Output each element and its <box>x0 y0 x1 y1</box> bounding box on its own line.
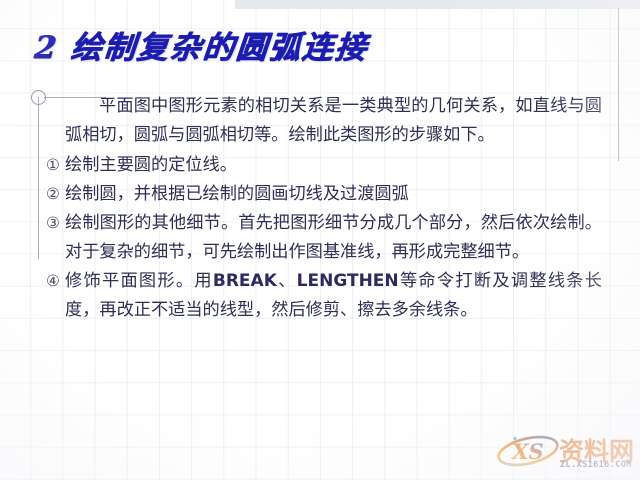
intro-paragraph: 平面图中图形元素的相切关系是一类典型的几何关系，如直线与圆弧相切，圆弧与圆弧相切… <box>46 92 606 150</box>
list-item-text: 修饰平面图形。用BREAK、LENGTHEN等命令打断及调整线条长度，再改正不适… <box>65 267 606 325</box>
xs-logo-icon: XS <box>495 434 561 468</box>
svg-text:XS: XS <box>510 439 543 464</box>
list-item: ② 绘制圆，并根据已绘制的圆画切线及过渡圆弧 <box>46 180 606 209</box>
list-item-text: 绘制图形的其他细节。首先把图形细节分成几个部分，然后依次绘制。对于复杂的细节，可… <box>65 209 606 267</box>
list-item-text: 绘制圆，并根据已绘制的圆画切线及过渡圆弧 <box>65 180 606 209</box>
watermark: XS 资料网 ZL.XS1616.COM <box>495 432 635 478</box>
command-name-lengthen: LENGTHEN <box>297 271 399 291</box>
slide-canvas: 2 绘制复杂的圆弧连接 平面图中图形元素的相切关系是一类典型的几何关系，如直线与… <box>0 0 640 480</box>
list-marker: ② <box>46 180 65 209</box>
watermark-url: ZL.XS1616.COM <box>560 460 632 470</box>
cad-node-circle-icon <box>31 90 46 105</box>
command-separator: 、 <box>277 271 297 291</box>
command-name-break: BREAK <box>213 271 277 291</box>
list-item-text-before: 修饰平面图形。用 <box>65 271 213 291</box>
list-marker: ① <box>46 151 65 180</box>
list-item: ③ 绘制图形的其他细节。首先把图形细节分成几个部分，然后依次绘制。对于复杂的细节… <box>46 209 606 267</box>
list-marker: ③ <box>46 209 65 238</box>
body-content: 平面图中图形元素的相切关系是一类典型的几何关系，如直线与圆弧相切，圆弧与圆弧相切… <box>46 92 606 325</box>
page-title: 2 绘制复杂的圆弧连接 <box>33 22 370 67</box>
list-item-text: 绘制主要圆的定位线。 <box>65 151 606 180</box>
list-item: ① 绘制主要圆的定位线。 <box>46 151 606 180</box>
list-item: ④ 修饰平面图形。用BREAK、LENGTHEN等命令打断及调整线条长度，再改正… <box>46 267 606 325</box>
cad-guide-line-right <box>618 8 619 161</box>
list-marker: ④ <box>46 267 65 296</box>
top-texture-band <box>235 0 640 9</box>
cad-guide-line-left <box>38 97 39 259</box>
